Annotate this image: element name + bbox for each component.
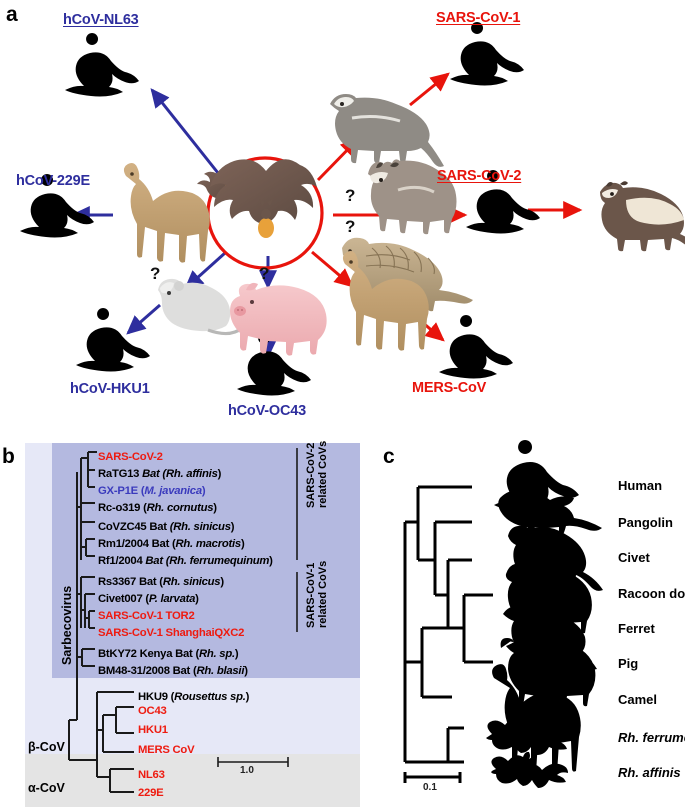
virus-label-hcov-nl63: hCoV-NL63: [63, 12, 139, 28]
arrow-bat-to-nl63: [152, 90, 222, 178]
taxon-nl63: NL63: [138, 770, 165, 781]
virus-label-sars-cov-2: SARS-CoV-2: [437, 168, 521, 184]
bracket-line-2: related CoVs: [317, 441, 329, 508]
bat-large-icon: [210, 159, 317, 238]
taxon-oc43: OC43: [138, 706, 167, 717]
human-silhouette-hku1: [76, 308, 150, 371]
virus-label-hcov-229e: hCoV-229E: [16, 173, 90, 189]
panel-c-label-ferret: Ferret: [618, 622, 655, 635]
human-silhouette-sars1: [450, 22, 524, 85]
arrow-rodent-to-hku1-human: [128, 305, 160, 333]
virus-label-hcov-oc43: hCoV-OC43: [228, 403, 306, 419]
panel-b-scale-value: 1.0: [240, 765, 254, 776]
panel-c-label-camel: Camel: [618, 693, 657, 706]
question-mark-pangolin: ?: [345, 217, 355, 237]
panel-c-label-civet: Civet: [618, 551, 650, 564]
human-silhouette-mers: [439, 315, 513, 378]
panel-c-host-phylogeny: c: [360, 432, 685, 807]
taxon-mers-cov: MERS CoV: [138, 745, 194, 756]
human-silhouette-nl63: [65, 33, 139, 96]
question-mark-rodent: ?: [150, 264, 160, 284]
civet-illustration: [330, 94, 444, 167]
panel-a-graphics: [0, 0, 685, 432]
pig-illustration: [230, 283, 327, 356]
virus-label-mers-cov: MERS-CoV: [412, 380, 486, 396]
panel-c-label-human: Human: [618, 479, 662, 492]
panel-c-label-pangolin: Pangolin: [618, 516, 673, 529]
virus-label-sars-cov-1: SARS-CoV-1: [436, 10, 520, 26]
bracket-line-1: SARS-CoV-2: [305, 443, 317, 508]
taxon-rc-o319: Rc-o319 (Rh. cornutus): [98, 503, 217, 514]
taxon-btky72: BtKY72 Kenya Bat (Rh. sp.): [98, 649, 238, 660]
taxon-sars-cov-2: SARS-CoV-2: [98, 452, 163, 463]
sars2-related-bracket-label: SARS-CoV-2 related CoVs: [306, 441, 329, 508]
panel-c-label-rh-affinis: Rh. affinis: [618, 766, 681, 779]
taxon-bm48-31-2008: BM48-31/2008 Bat (Rh. blasii): [98, 666, 248, 677]
taxon-rm1-2004: Rm1/2004 Bat (Rh. macrotis): [98, 539, 244, 550]
panel-a-transmission-diagram: a: [0, 0, 685, 432]
taxon-sars-cov-1-shanghaiqxc2: SARS-CoV-1 ShanghaiQXC2: [98, 628, 244, 639]
panel-c-label-rh-ferrumequinum: Rh. ferrumequinum: [618, 731, 685, 744]
taxon-ratg13: RaTG13 Bat (Rh. affinis): [98, 469, 221, 480]
taxon-gx-p1e: GX-P1E (M. javanica): [98, 486, 205, 497]
taxon-hku9: HKU9 (Rousettus sp.): [138, 692, 249, 703]
taxon-rs3367: Rs3367 Bat (Rh. sinicus): [98, 577, 224, 588]
camel-left-illustration: [124, 163, 210, 263]
taxon-civet007: Civet007 (P. larvata): [98, 594, 199, 605]
question-mark-racoon-dog: ?: [345, 186, 355, 206]
virus-label-hcov-hku1: hCoV-HKU1: [70, 381, 150, 397]
panel-c-scale-value: 0.1: [423, 782, 437, 793]
bracket-line-1: SARS-CoV-1: [305, 563, 317, 628]
taxon-covzc45: CoVZC45 Bat (Rh. sinicus): [98, 522, 234, 533]
question-mark-pig: ?: [259, 264, 269, 284]
ferret-illustration: [600, 181, 685, 253]
panel-c-label-pig: Pig: [618, 657, 638, 670]
arrow-civet-to-sars1-human: [410, 74, 448, 105]
taxon-rf1-2004: Rf1/2004 Bat (Rh. ferrumequinum): [98, 556, 273, 567]
taxon-sars-cov-1-tor2: SARS-CoV-1 TOR2: [98, 611, 194, 622]
sars1-related-bracket-label: SARS-CoV-1 related CoVs: [306, 561, 329, 628]
panel-c-label-racoon-dog: Racoon dog: [618, 587, 685, 600]
taxon-hku1: HKU1: [138, 725, 168, 736]
taxon-229e: 229E: [138, 788, 163, 799]
bracket-line-2: related CoVs: [317, 561, 329, 628]
